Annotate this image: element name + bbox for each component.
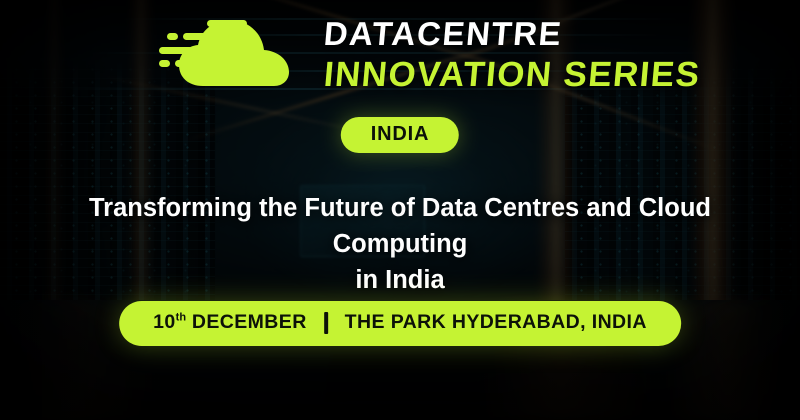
headline-line-1: Transforming the Future of Data Centres … <box>89 194 711 258</box>
event-day: 10 <box>153 311 176 333</box>
banner-content: DATACENTRE INNOVATION SERIES INDIA Trans… <box>0 0 800 420</box>
event-day-suffix: th <box>176 312 186 324</box>
brand-wordmark-line-1: DATACENTRE <box>323 17 702 50</box>
brand-wordmark-line-2: INNOVATION SERIES <box>322 57 701 92</box>
brand-logo-lockup: DATACENTRE INNOVATION SERIES <box>155 14 700 92</box>
headline: Transforming the Future of Data Centres … <box>0 190 800 299</box>
pill-separator <box>324 312 328 334</box>
brand-wordmark: DATACENTRE INNOVATION SERIES <box>324 15 700 92</box>
event-date-venue-pill: 10th DECEMBER THE PARK HYDERABAD, INDIA <box>119 301 681 346</box>
region-badge: INDIA <box>341 117 459 153</box>
event-month: DECEMBER <box>192 311 307 333</box>
headline-line-2: in India <box>355 266 444 294</box>
event-venue: THE PARK HYDERABAD, INDIA <box>345 311 647 334</box>
event-date: 10th DECEMBER <box>153 311 307 334</box>
event-banner: DATACENTRE INNOVATION SERIES INDIA Trans… <box>0 0 800 420</box>
speed-cloud-icon <box>155 14 310 92</box>
